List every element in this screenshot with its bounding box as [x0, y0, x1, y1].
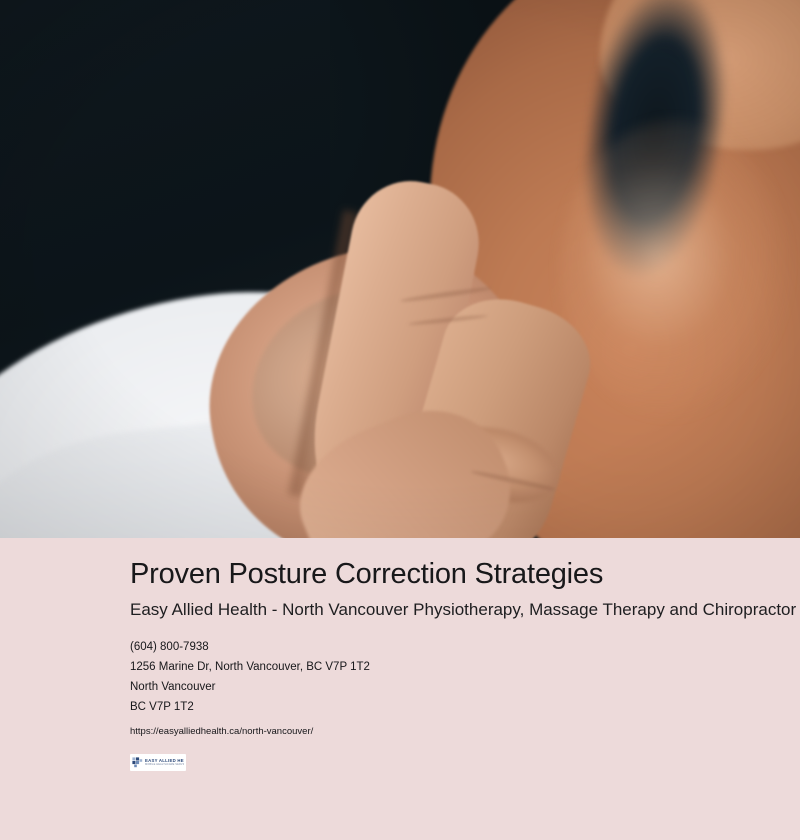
info-panel: Proven Posture Correction Strategies Eas…	[0, 538, 800, 840]
info-content: Proven Posture Correction Strategies Eas…	[130, 538, 800, 771]
contact-region-postal: BC V7P 1T2	[130, 697, 800, 717]
logo-tagline: MOBILE HEALTHCARE SERVICES	[145, 763, 184, 766]
contact-city: North Vancouver	[130, 677, 800, 697]
contact-phone[interactable]: (604) 800-7938	[130, 637, 800, 657]
hero-photo	[0, 0, 800, 538]
brand-logo[interactable]: EASY ALLIED HEALTH MOBILE HEALTHCARE SER…	[130, 754, 186, 771]
page-title: Proven Posture Correction Strategies	[130, 538, 800, 591]
business-subtitle: Easy Allied Health - North Vancouver Phy…	[130, 591, 800, 621]
page-root: Proven Posture Correction Strategies Eas…	[0, 0, 800, 840]
allied-health-cross-icon	[132, 757, 143, 768]
contact-details: (604) 800-7938 1256 Marine Dr, North Van…	[130, 621, 800, 717]
contact-address: 1256 Marine Dr, North Vancouver, BC V7P …	[130, 657, 800, 677]
photo-vignette	[0, 0, 800, 538]
website-url[interactable]: https://easyalliedhealth.ca/north-vancou…	[130, 717, 800, 738]
logo-text: EASY ALLIED HEALTH MOBILE HEALTHCARE SER…	[145, 758, 184, 766]
